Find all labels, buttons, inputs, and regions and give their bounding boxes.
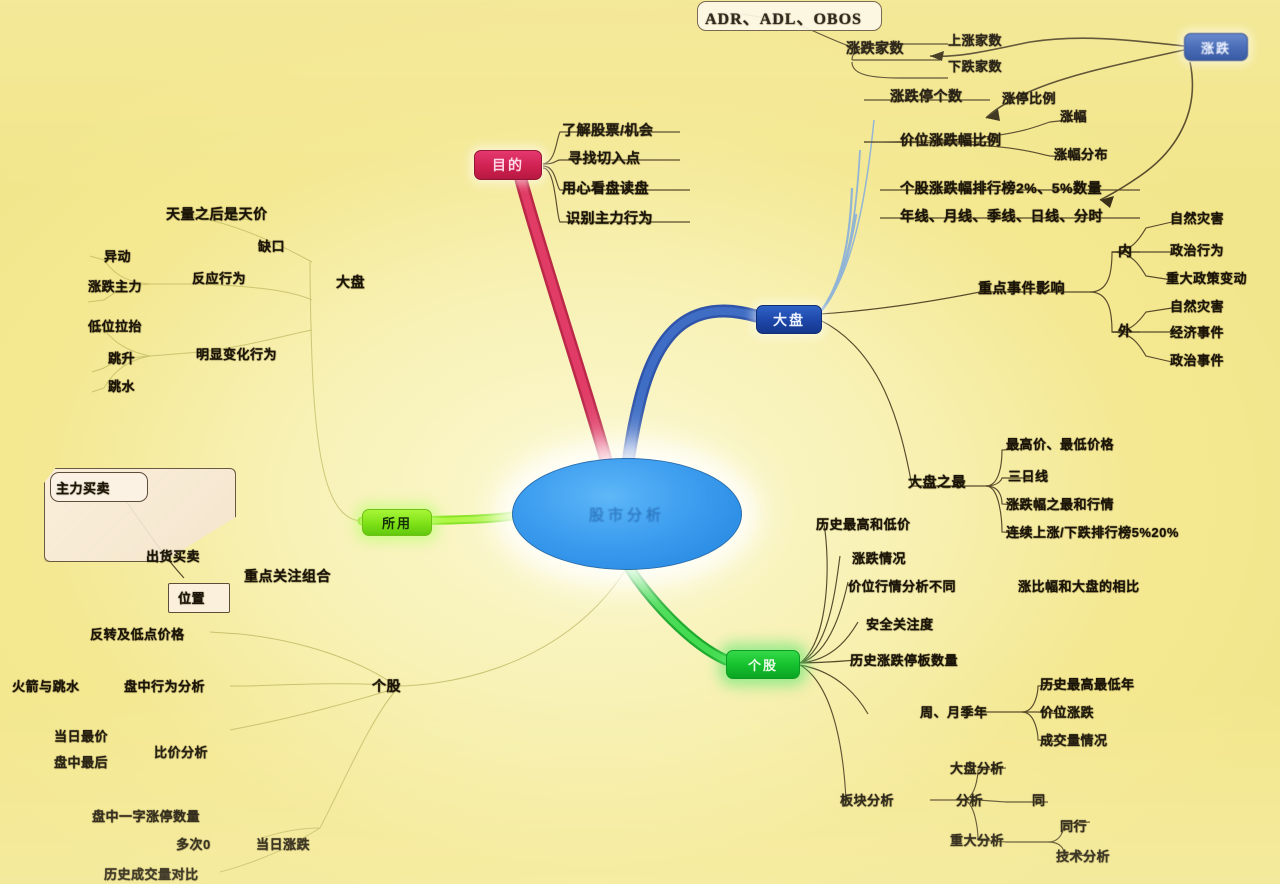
label-sl-6: 比价分析 — [154, 742, 208, 761]
branch-node-stock[interactable]: 个股 — [726, 650, 800, 679]
label-advancing-count: 上涨家数 — [948, 30, 1002, 49]
label-position: 位置 — [178, 588, 205, 607]
branch-node-purpose[interactable]: 目的 — [474, 150, 542, 180]
label-declining-count: 下跌家数 — [948, 56, 1002, 75]
label-extreme-2: 三日线 — [1008, 466, 1049, 485]
label-sr-2: 涨跌情况 — [852, 548, 906, 567]
label-sr-7f: 技术分析 — [1056, 846, 1110, 865]
label-ml-3: 反应行为 — [192, 268, 246, 287]
branch-node-tools[interactable]: 所用 — [362, 509, 432, 536]
label-sr-7d: 重大分析 — [950, 830, 1004, 849]
label-sl-3: 盘中行为分析 — [124, 676, 205, 695]
label-sr-7a: 大盘分析 — [950, 758, 1004, 777]
side-node-updown[interactable]: 涨跌 — [1184, 33, 1248, 61]
label-sl-9: 当日涨跌 — [256, 834, 310, 853]
label-limit-ratio: 涨停比例 — [1002, 88, 1056, 107]
label-distribution-trade: 出货买卖 — [146, 546, 200, 565]
label-sr-6a: 历史最高最低年 — [1040, 674, 1135, 693]
label-external-2: 经济事件 — [1170, 322, 1224, 341]
label-ml-root: 大盘 — [336, 272, 365, 292]
label-internal-2: 政治行为 — [1170, 240, 1224, 259]
side-node-updown-label: 涨跌 — [1201, 38, 1231, 57]
label-limit-count: 涨跌停个数 — [890, 86, 963, 106]
label-external-3: 政治事件 — [1170, 350, 1224, 369]
label-extreme-4: 连续上涨/下跌排行榜5%20% — [1006, 522, 1179, 541]
label-ml-4: 异动 — [104, 246, 131, 265]
center-node-label: 股市分析 — [589, 504, 665, 525]
label-market-extremes: 大盘之最 — [908, 472, 966, 492]
label-sr-5: 历史涨跌停板数量 — [850, 650, 958, 669]
label-sr-1: 历史最高和低价 — [816, 514, 911, 533]
mindmap-canvas: 股市分析 目的 大盘 涨跌 所用 个股 ADR、ADL、OBOS 涨跌家数 上涨… — [0, 0, 1280, 884]
label-extreme-1: 最高价、最低价格 — [1006, 434, 1114, 453]
label-purpose-1: 了解股票/机会 — [562, 120, 653, 140]
label-sr-7c: 同 — [1032, 790, 1046, 809]
label-ml-7: 跳升 — [108, 348, 135, 367]
label-gain-distribution: 涨幅分布 — [1054, 144, 1108, 163]
label-key-watch-combo: 重点关注组合 — [244, 566, 331, 586]
label-sr-3b: 涨比幅和大盘的相比 — [1018, 576, 1140, 595]
label-sr-7e: 同行 — [1060, 816, 1087, 835]
label-key-events: 重点事件影响 — [978, 278, 1065, 298]
label-adr-adl-obos: ADR、ADL、OBOS — [705, 5, 862, 29]
label-purpose-4: 识别主力行为 — [566, 208, 653, 228]
label-sl-8: 多次0 — [176, 834, 211, 853]
label-sl-7: 盘中一字涨停数量 — [92, 806, 200, 825]
label-sr-6: 周、月季年 — [920, 702, 988, 721]
label-price-change-ratio: 价位涨跌幅比例 — [900, 130, 1002, 150]
label-gain: 涨幅 — [1060, 106, 1087, 125]
label-sl-4: 当日最价 — [54, 726, 108, 745]
label-updown-count: 涨跌家数 — [846, 38, 904, 58]
label-ml-9: 明显变化行为 — [196, 344, 277, 363]
label-sl-2: 火箭与跳水 — [12, 676, 80, 695]
label-stock-root: 个股 — [372, 676, 401, 696]
center-node[interactable]: 股市分析 — [512, 458, 742, 570]
label-internal: 内 — [1118, 241, 1133, 261]
label-ml-1: 天量之后是天价 — [166, 204, 268, 224]
label-internal-3: 重大政策变动 — [1166, 268, 1247, 287]
label-sl-10: 历史成交量对比 — [104, 864, 199, 883]
label-ml-6: 低位拉抬 — [88, 316, 142, 335]
branch-node-stock-label: 个股 — [748, 655, 778, 674]
label-sl-1: 反转及低点价格 — [90, 624, 185, 643]
branch-node-market-label: 大盘 — [773, 310, 805, 330]
label-extreme-3: 涨跌幅之最和行情 — [1006, 494, 1114, 513]
label-sr-3: 价位行情分析不同 — [848, 576, 956, 595]
label-sr-7: 板块分析 — [840, 790, 894, 809]
label-stock-rank: 个股涨跌幅排行榜2%、5%数量 — [900, 178, 1102, 198]
label-purpose-3: 用心看盘读盘 — [562, 178, 649, 198]
label-main-force-trade: 主力买卖 — [56, 478, 110, 497]
label-sr-7b: 分析 — [956, 790, 983, 809]
label-ml-5: 涨跌主力 — [88, 276, 142, 295]
label-timeframes: 年线、月线、季线、日线、分时 — [900, 206, 1103, 226]
label-ml-2: 缺口 — [258, 236, 285, 255]
label-sr-6b: 价位涨跌 — [1040, 702, 1094, 721]
label-internal-1: 自然灾害 — [1170, 208, 1224, 227]
branch-node-market[interactable]: 大盘 — [756, 305, 822, 334]
label-purpose-2: 寻找切入点 — [568, 148, 641, 168]
branch-node-purpose-label: 目的 — [492, 155, 524, 175]
branch-node-tools-label: 所用 — [382, 513, 412, 532]
label-external-1: 自然灾害 — [1170, 296, 1224, 315]
label-sr-6c: 成交量情况 — [1040, 730, 1108, 749]
label-ml-8: 跳水 — [108, 376, 135, 395]
label-external: 外 — [1118, 321, 1133, 341]
label-sl-5: 盘中最后 — [54, 752, 108, 771]
label-sr-4: 安全关注度 — [866, 614, 934, 633]
